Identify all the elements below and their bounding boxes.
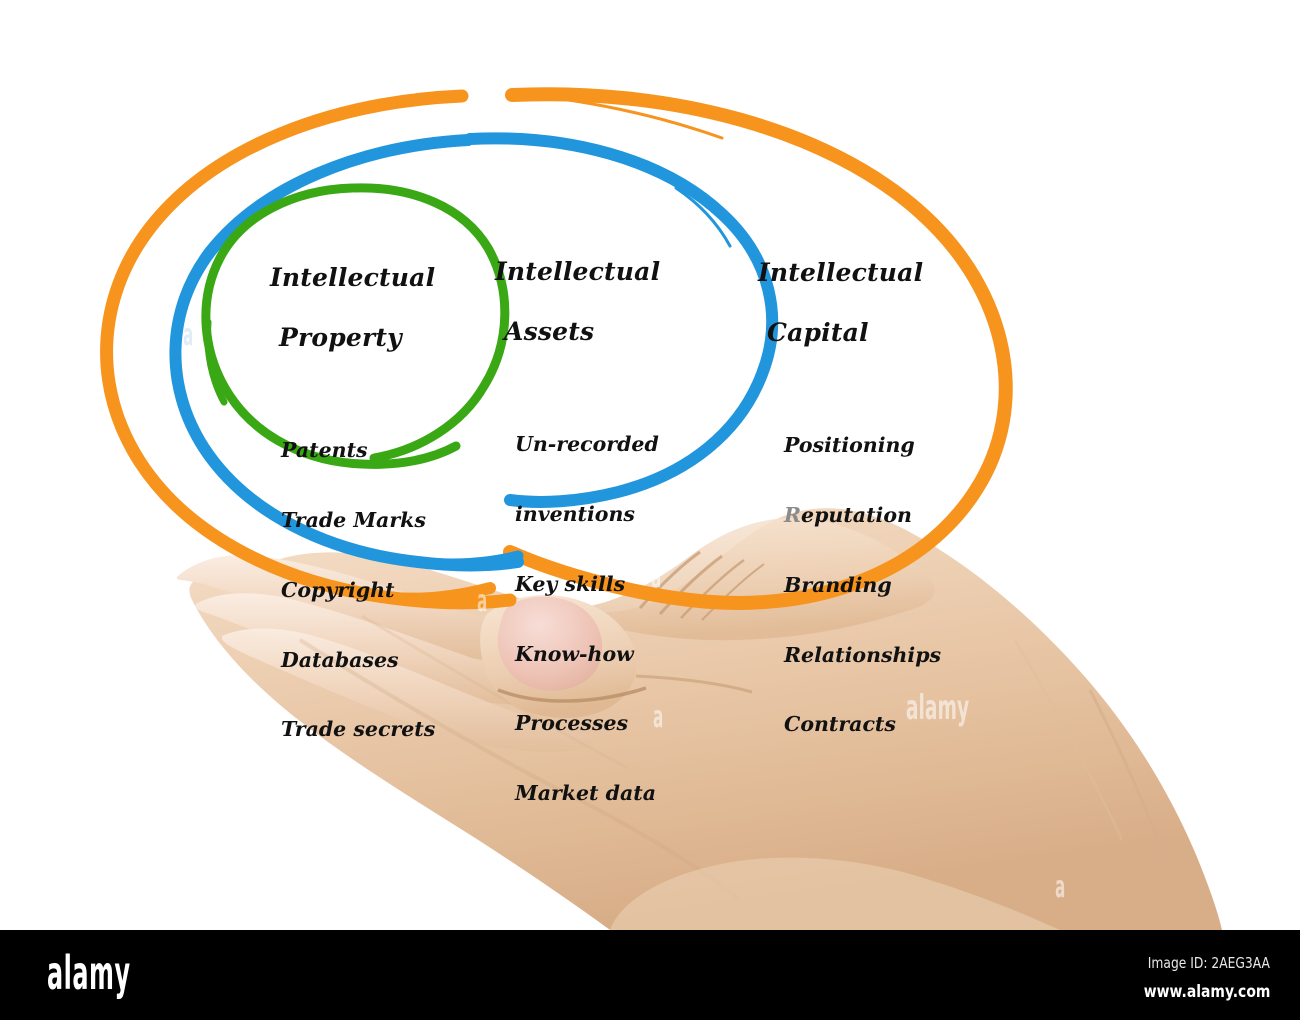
list-item: Relationships [784, 644, 941, 667]
alamy-logo: alamy [47, 950, 131, 996]
blue-middle-ellipse [175, 138, 772, 565]
list-item: Contracts [784, 713, 941, 736]
list-item: Positioning [784, 434, 941, 457]
forearm-contour [1090, 690, 1172, 876]
title-line-2: Property [270, 325, 435, 351]
list-item: Un-recorded [515, 433, 660, 456]
title-line-1: Intellectual [495, 259, 660, 285]
list-intellectual-capital: Positioning Reputation Branding Relation… [784, 388, 941, 784]
list-item: Reputation [784, 504, 941, 527]
group-intellectual-capital: Intellectual Capital Positioning Reputat… [758, 227, 941, 783]
list-intellectual-property: Patents Trade Marks Copyright Databases … [281, 393, 435, 789]
title-line-1: Intellectual [758, 260, 941, 286]
title-line-2: Capital [758, 320, 941, 346]
alamy-footer-bar: alamy Image ID: 2AEG3AA www.alamy.com [0, 930, 1300, 1020]
list-item: Databases [281, 649, 435, 672]
image-id-label: Image ID: 2AEG3AA [1148, 954, 1270, 972]
list-item: Market data [515, 782, 660, 805]
alamy-url-label: www.alamy.com [1143, 982, 1270, 1002]
group-title-intellectual-assets: Intellectual Assets [495, 226, 660, 378]
group-title-intellectual-capital: Intellectual Capital [758, 227, 941, 379]
list-item: Know-how [515, 643, 660, 666]
list-item: Key skills [515, 573, 660, 596]
list-item: inventions [515, 503, 660, 526]
title-line-2: Assets [495, 319, 660, 345]
list-item: Branding [784, 574, 941, 597]
title-line-1: Intellectual [270, 265, 435, 291]
list-item: Trade secrets [281, 718, 435, 741]
list-item: Trade Marks [281, 509, 435, 532]
wrist-lower-shade [610, 858, 1060, 930]
list-item: Patents [281, 439, 435, 462]
group-intellectual-property: Intellectual Property Patents Trade Mark… [270, 232, 435, 788]
group-intellectual-assets: Intellectual Assets Un-recorded inventio… [495, 226, 660, 852]
image-canvas: Intellectual Property Patents Trade Mark… [0, 0, 1300, 1020]
list-item: Processes [515, 712, 660, 735]
list-intellectual-assets: Un-recorded inventions Key skills Know-h… [515, 387, 660, 852]
group-title-intellectual-property: Intellectual Property [270, 232, 435, 384]
list-item: Copyright [281, 579, 435, 602]
